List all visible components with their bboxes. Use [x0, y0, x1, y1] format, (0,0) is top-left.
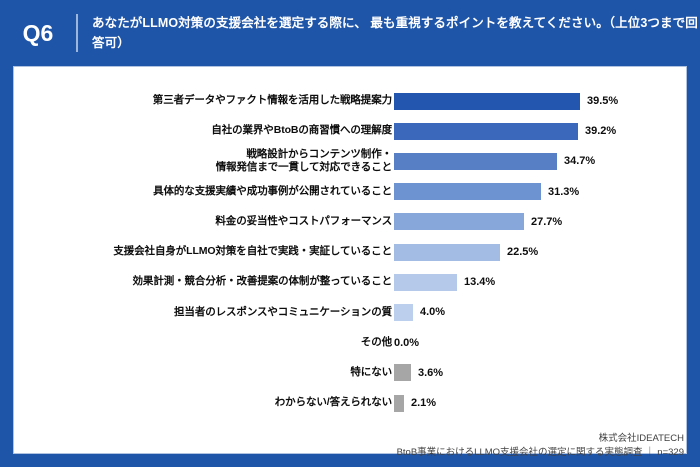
bar-value-label: 31.3%: [548, 186, 579, 198]
bar: [394, 395, 404, 412]
chart-row: 第三者データやファクト情報を活用した戦略提案力39.5%: [14, 88, 686, 114]
bar-group: 13.4%: [394, 269, 495, 295]
chart-panel: 第三者データやファクト情報を活用した戦略提案力39.5%自社の業界やBtoBの商…: [13, 66, 687, 454]
bar-group: 39.2%: [394, 118, 616, 144]
footer-company: 株式会社IDEATECH: [397, 432, 684, 447]
chart-row: 戦略設計からコンテンツ制作・ 情報発信まで一貫して対応できること34.7%: [14, 148, 686, 174]
bar-value-label: 0.0%: [394, 337, 419, 349]
bar-group: 2.1%: [394, 390, 436, 416]
bar-group: 34.7%: [394, 148, 595, 174]
bar-value-label: 4.0%: [420, 306, 445, 318]
bar-value-label: 39.2%: [585, 125, 616, 137]
header-divider: [76, 14, 78, 52]
bar: [394, 244, 500, 261]
bar: [394, 123, 578, 140]
chart-row: わからない/答えられない2.1%: [14, 390, 686, 416]
bar-group: 0.0%: [394, 330, 419, 356]
bar-group: 4.0%: [394, 299, 445, 325]
category-label: 第三者データやファクト情報を活用した戦略提案力: [62, 94, 392, 107]
bar-group: 31.3%: [394, 179, 579, 205]
slide-root: Q6 あなたがLLMO対策の支援会社を選定する際に、 最も重視するポイントを教え…: [0, 0, 700, 467]
chart-footer: 株式会社IDEATECH BtoB事業におけるLLMO支援会社の選定に関する実態…: [397, 432, 684, 461]
chart-row: その他0.0%: [14, 330, 686, 356]
bar-value-label: 2.1%: [411, 397, 436, 409]
chart-row: 支援会社自身がLLMO対策を自社で実践・実証していること22.5%: [14, 239, 686, 265]
category-label: 担当者のレスポンスやコミュニケーションの質: [62, 306, 392, 319]
bar: [394, 304, 413, 321]
bar-value-label: 27.7%: [531, 216, 562, 228]
chart-row: 具体的な支援実績や成功事例が公開されていること31.3%: [14, 179, 686, 205]
bar-group: 22.5%: [394, 239, 538, 265]
category-label: わからない/答えられない: [62, 396, 392, 409]
question-text: あなたがLLMO対策の支援会社を選定する際に、 最も重視するポイントを教えてくだ…: [92, 13, 700, 54]
chart-row: 自社の業界やBtoBの商習慣への理解度39.2%: [14, 118, 686, 144]
category-label: 具体的な支援実績や成功事例が公開されていること: [62, 185, 392, 198]
bar-value-label: 39.5%: [587, 95, 618, 107]
bar-value-label: 13.4%: [464, 276, 495, 288]
footer-survey: BtoB事業におけるLLMO支援会社の選定に関する実態調査 ｜ n=329: [397, 446, 684, 461]
bar-group: 27.7%: [394, 209, 562, 235]
bar: [394, 364, 411, 381]
bar-group: 39.5%: [394, 88, 618, 114]
category-label: その他: [62, 336, 392, 349]
bar-chart: 第三者データやファクト情報を活用した戦略提案力39.5%自社の業界やBtoBの商…: [14, 67, 686, 453]
bar-value-label: 22.5%: [507, 246, 538, 258]
chart-row: 担当者のレスポンスやコミュニケーションの質4.0%: [14, 299, 686, 325]
bar-value-label: 34.7%: [564, 155, 595, 167]
category-label: 戦略設計からコンテンツ制作・ 情報発信まで一貫して対応できること: [62, 148, 392, 175]
category-label: 効果計測・競合分析・改善提案の体制が整っていること: [62, 275, 392, 288]
category-label: 支援会社自身がLLMO対策を自社で実践・実証していること: [62, 245, 392, 258]
bar: [394, 213, 524, 230]
category-label: 自社の業界やBtoBの商習慣への理解度: [62, 124, 392, 137]
chart-row: 料金の妥当性やコストパフォーマンス27.7%: [14, 209, 686, 235]
bar-group: 3.6%: [394, 360, 443, 386]
chart-row: 特にない3.6%: [14, 360, 686, 386]
bar-value-label: 3.6%: [418, 367, 443, 379]
category-label: 特にない: [62, 366, 392, 379]
chart-row: 効果計測・競合分析・改善提案の体制が整っていること13.4%: [14, 269, 686, 295]
category-label: 料金の妥当性やコストパフォーマンス: [62, 215, 392, 228]
bar: [394, 274, 457, 291]
question-number: Q6: [0, 20, 76, 47]
bar: [394, 93, 580, 110]
bar: [394, 183, 541, 200]
bar: [394, 153, 557, 170]
question-header: Q6 あなたがLLMO対策の支援会社を選定する際に、 最も重視するポイントを教え…: [0, 0, 700, 66]
